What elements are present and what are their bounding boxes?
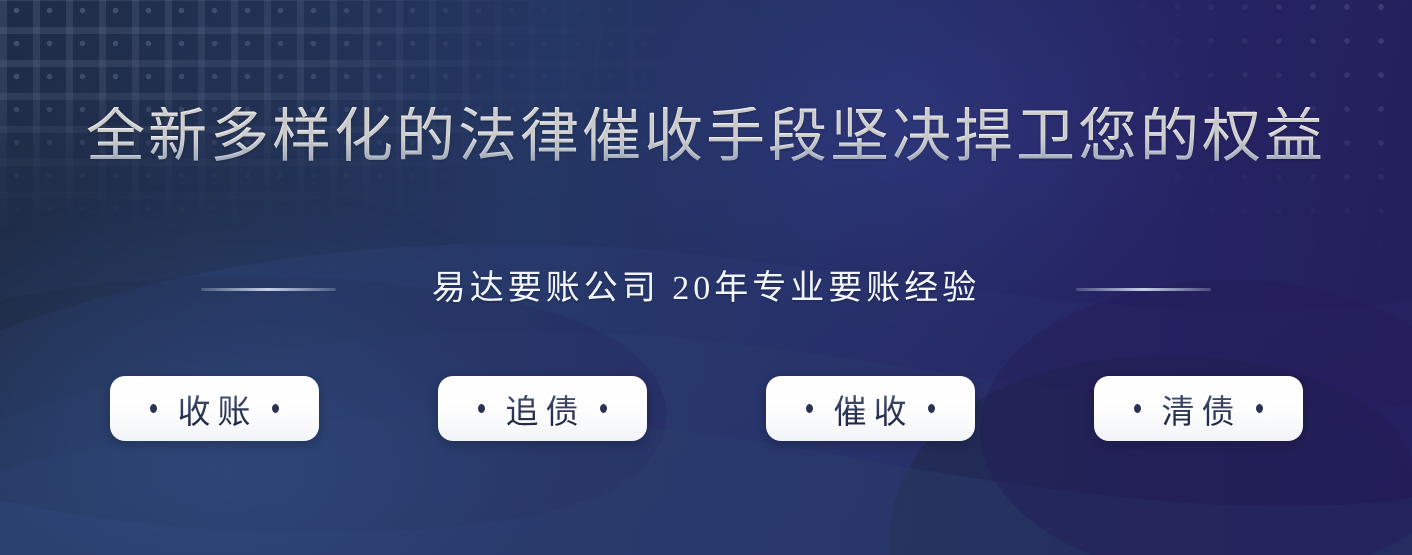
service-pill-cuishou[interactable]: 催收 — [766, 376, 975, 441]
banner-content: 全新多样化的法律催收手段坚决捍卫您的权益 易达要账公司 20年专业要账经验 收账… — [0, 0, 1412, 555]
subtitle: 易达要账公司 20年专业要账经验 — [432, 268, 981, 311]
service-pill-zhuizhai[interactable]: 追债 — [438, 376, 647, 441]
service-pill-label: 清债 — [1155, 385, 1242, 433]
bullet-dot-icon — [928, 404, 935, 413]
subtitle-row: 易达要账公司 20年专业要账经验 — [0, 268, 1412, 311]
service-pill-shouzhang[interactable]: 收账 — [110, 376, 319, 441]
service-pill-label: 追债 — [499, 385, 586, 433]
service-pill-row: 收账 追债 催收 清债 — [0, 376, 1412, 441]
bullet-dot-icon — [1256, 404, 1263, 413]
bullet-dot-icon — [150, 404, 157, 413]
service-pill-qingzhai[interactable]: 清债 — [1094, 376, 1303, 441]
divider-right — [1076, 288, 1211, 291]
service-pill-label: 收账 — [171, 385, 258, 433]
page-title: 全新多样化的法律催收手段坚决捍卫您的权益 — [0, 107, 1412, 166]
bullet-dot-icon — [806, 404, 813, 413]
promo-banner: 全新多样化的法律催收手段坚决捍卫您的权益 易达要账公司 20年专业要账经验 收账… — [0, 0, 1412, 555]
divider-left — [201, 288, 336, 291]
service-pill-label: 催收 — [827, 385, 914, 433]
bullet-dot-icon — [272, 404, 279, 413]
bullet-dot-icon — [600, 404, 607, 413]
bullet-dot-icon — [1134, 404, 1141, 413]
bullet-dot-icon — [478, 404, 485, 413]
